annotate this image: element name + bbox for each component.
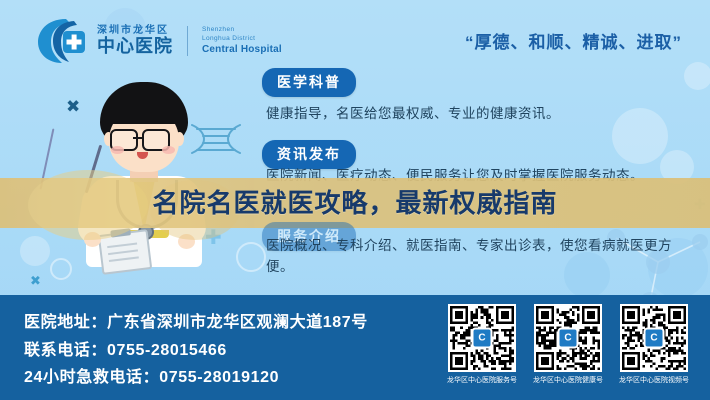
- deco-bubble-7: [684, 62, 710, 90]
- hospital-promo-poster: ✖ ✖ ✚ ✚: [0, 0, 710, 400]
- badge-medical-science: 医学科普: [262, 68, 356, 97]
- poster-footer: 医院地址：广东省深圳市龙华区观澜大道187号 联系电话：0755-2801546…: [0, 295, 710, 400]
- paragraph-service-intro: 医院概况、专科介绍、就医指南、专家出诊表，使您看病就医更方便。: [266, 236, 686, 278]
- qrcode-item[interactable]: C 龙华区中心医院服务号: [446, 304, 518, 385]
- hospital-logo-english: Shenzhen Longhua District Central Hospit…: [202, 26, 282, 56]
- deco-ring-1: [236, 242, 266, 272]
- paragraph-medical-science: 健康指导，名医给您最权威、专业的健康资讯。: [266, 104, 696, 125]
- hospital-contact-info: 医院地址：广东省深圳市龙华区观澜大道187号 联系电话：0755-2801546…: [24, 309, 368, 392]
- doctor-ear-right: [175, 132, 184, 146]
- deco-x-mark-2: ✖: [30, 272, 41, 290]
- footer-emergency-phone: 24小时急救电话：0755-28019120: [24, 364, 368, 392]
- badge-news-release: 资讯发布: [262, 140, 356, 169]
- doctor-blush-right: [162, 146, 175, 154]
- qrcode-image-service[interactable]: C: [448, 304, 516, 372]
- qrcode-item[interactable]: C 龙华区中心医院视频号: [618, 304, 690, 385]
- logo-cn-line2: 中心医院: [97, 36, 173, 57]
- qrcode-image-health[interactable]: C: [534, 304, 602, 372]
- hospital-motto: “厚德、和顺、精诚、进取”: [465, 28, 682, 53]
- logo-en-line1: Shenzhen: [202, 26, 282, 35]
- hospital-logo: 深圳市龙华区 中心医院 Shenzhen Longhua District Ce…: [36, 16, 282, 66]
- qrcode-center-logo: C: [558, 328, 579, 349]
- logo-cn-line1: 深圳市龙华区: [97, 25, 173, 36]
- hospital-logo-mark: [36, 16, 90, 66]
- qrcode-item[interactable]: C 龙华区中心医院健康号: [532, 304, 604, 385]
- qrcode-image-video[interactable]: C: [620, 304, 688, 372]
- doctor-blush-left: [111, 146, 124, 154]
- qrcode-center-logo: C: [644, 328, 665, 349]
- qrcode-label-video: 龙华区中心医院视频号: [619, 375, 689, 385]
- poster-headline: 名院名医就医攻略，最新权威指南: [0, 183, 710, 220]
- deco-bubble-6: [20, 236, 50, 266]
- qrcode-label-service: 龙华区中心医院服务号: [447, 375, 517, 385]
- qrcode-center-logo: C: [472, 328, 493, 349]
- qrcode-label-health: 龙华区中心医院健康号: [533, 375, 603, 385]
- footer-phone: 联系电话：0755-28015466: [24, 337, 368, 365]
- doctor-fringe: [102, 98, 186, 124]
- footer-address: 医院地址：广东省深圳市龙华区观澜大道187号: [24, 309, 368, 337]
- logo-en-line3: Central Hospital: [202, 44, 282, 57]
- hospital-logo-chinese: 深圳市龙华区 中心医院: [97, 25, 173, 57]
- deco-ring-2: [50, 258, 72, 280]
- qrcode-group: C 龙华区中心医院服务号 C 龙华区中心医院健康号 C 龙华区中心医院视频号: [446, 304, 690, 385]
- logo-divider: [187, 26, 188, 56]
- logo-en-line2: Longhua District: [202, 35, 282, 44]
- doctor-glasses-bridge: [133, 137, 144, 139]
